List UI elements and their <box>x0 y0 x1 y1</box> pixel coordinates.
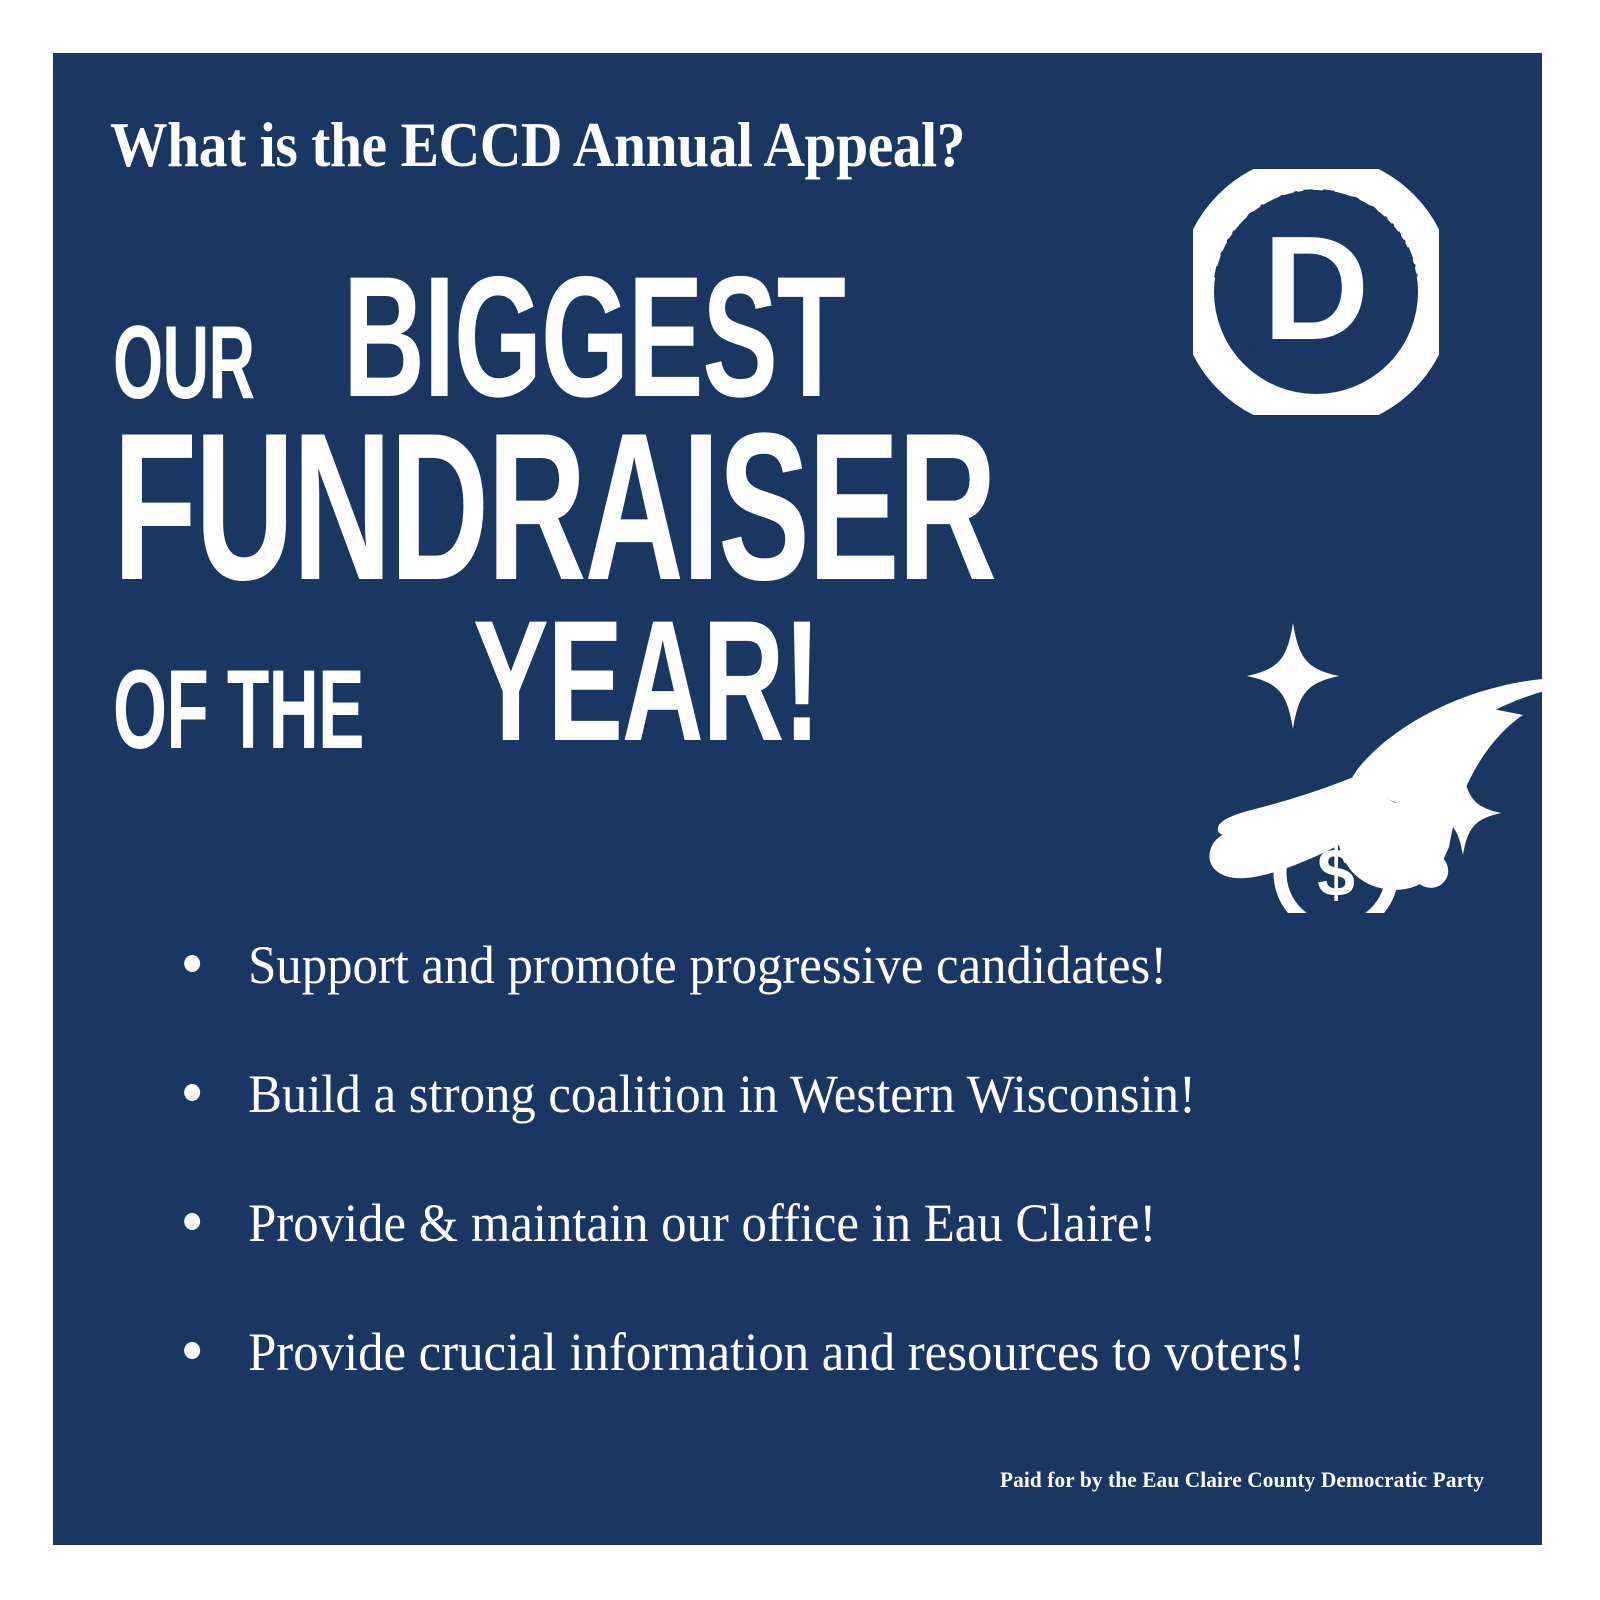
headline-of-the: OF THE <box>113 662 364 758</box>
headline-block: OUR BIGGEST FUNDRAISER OF THE YEAR! <box>113 268 1313 758</box>
list-item-label: Provide crucial information and resource… <box>248 1320 1421 1386</box>
list-item: Provide & maintain our office in Eau Cla… <box>171 1191 1421 1257</box>
bullet-dot-icon <box>184 1084 200 1101</box>
list-item-label: Build a strong coalition in Western Wisc… <box>248 1062 1421 1128</box>
eccd-seal-logo: EAU CLAIRE COUNTY DEMOCRATIC PARTY D <box>1193 169 1439 415</box>
sparkle-icon <box>1247 623 1339 729</box>
list-item: Support and promote progressive candidat… <box>171 933 1421 999</box>
headline-line-2: FUNDRAISER <box>113 408 1313 598</box>
paid-for-by-disclaimer: Paid for by the Eau Claire County Democr… <box>1000 1467 1484 1493</box>
list-item-label: Provide & maintain our office in Eau Cla… <box>248 1191 1421 1257</box>
list-item-label: Support and promote progressive candidat… <box>248 933 1421 999</box>
hand-with-coin-illustration: $ <box>1153 473 1542 913</box>
eyebrow-question: What is the ECCD Annual Appeal? <box>110 111 1118 178</box>
list-item: Provide crucial information and resource… <box>171 1320 1421 1386</box>
headline-fundraiser: FUNDRAISER <box>113 417 995 598</box>
bullet-dot-icon <box>184 1342 200 1359</box>
poster-panel: What is the ECCD Annual Appeal? OUR BIGG… <box>53 53 1542 1545</box>
list-item: Build a strong coalition in Western Wisc… <box>171 1062 1421 1128</box>
headline-year: YEAR! <box>473 608 820 756</box>
benefits-list: Support and promote progressive candidat… <box>171 933 1501 1386</box>
bullet-dot-icon <box>184 955 200 972</box>
logo-letter-d: D <box>1263 206 1370 371</box>
svg-text:$: $ <box>1317 835 1355 911</box>
bullet-dot-icon <box>184 1213 200 1230</box>
headline-line-3: OF THE YEAR! <box>113 598 1313 758</box>
headline-line-1: OUR BIGGEST <box>113 268 1313 408</box>
